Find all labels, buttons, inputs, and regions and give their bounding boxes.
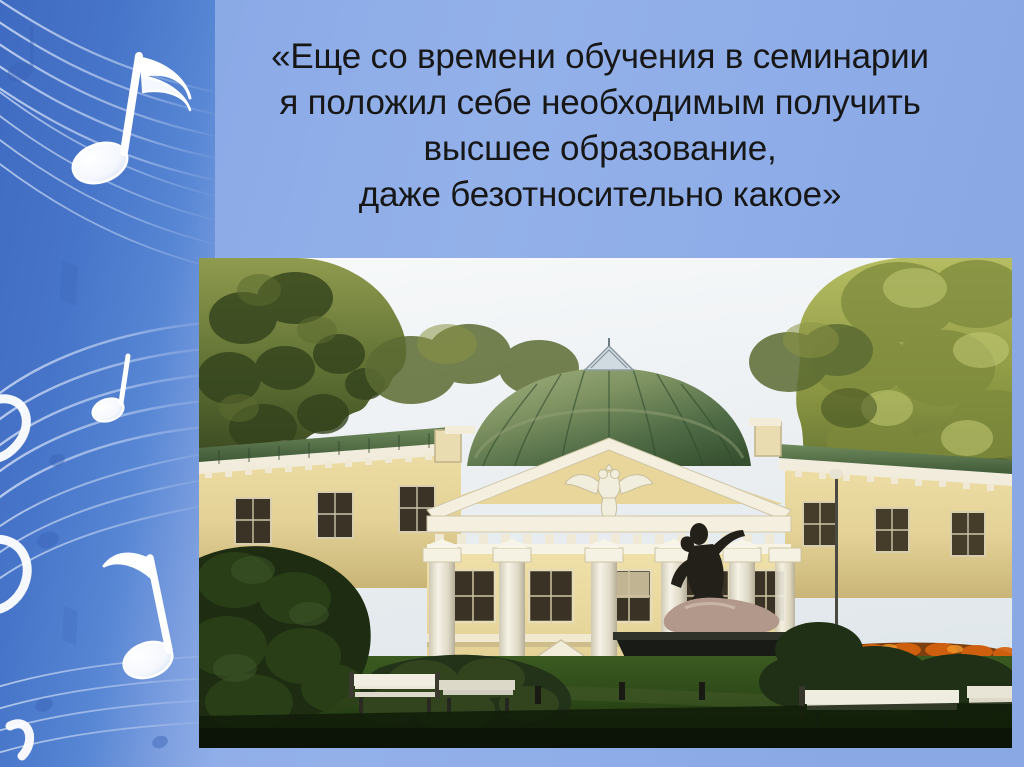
- quote-line-4: даже безотносительно какое»: [190, 172, 1010, 218]
- quote-line-3: высшее образование,: [190, 126, 1010, 172]
- quote-line-2: я положил себе необходимым получить: [190, 80, 1010, 126]
- music-notes-border: [0, 0, 215, 767]
- presentation-slide: «Еще со времени обучения в семинарии я п…: [0, 0, 1024, 767]
- ghost-notes-icon: [5, 26, 170, 750]
- classical-academy-building-photo: [199, 258, 1012, 748]
- quote-line-1: «Еще со времени обучения в семинарии: [190, 34, 1010, 80]
- chimney-right: [755, 422, 781, 456]
- quote-text: «Еще со времени обучения в семинарии я п…: [190, 34, 1010, 218]
- staff-lines-icon: [0, 0, 215, 767]
- chimney-left: [435, 430, 461, 462]
